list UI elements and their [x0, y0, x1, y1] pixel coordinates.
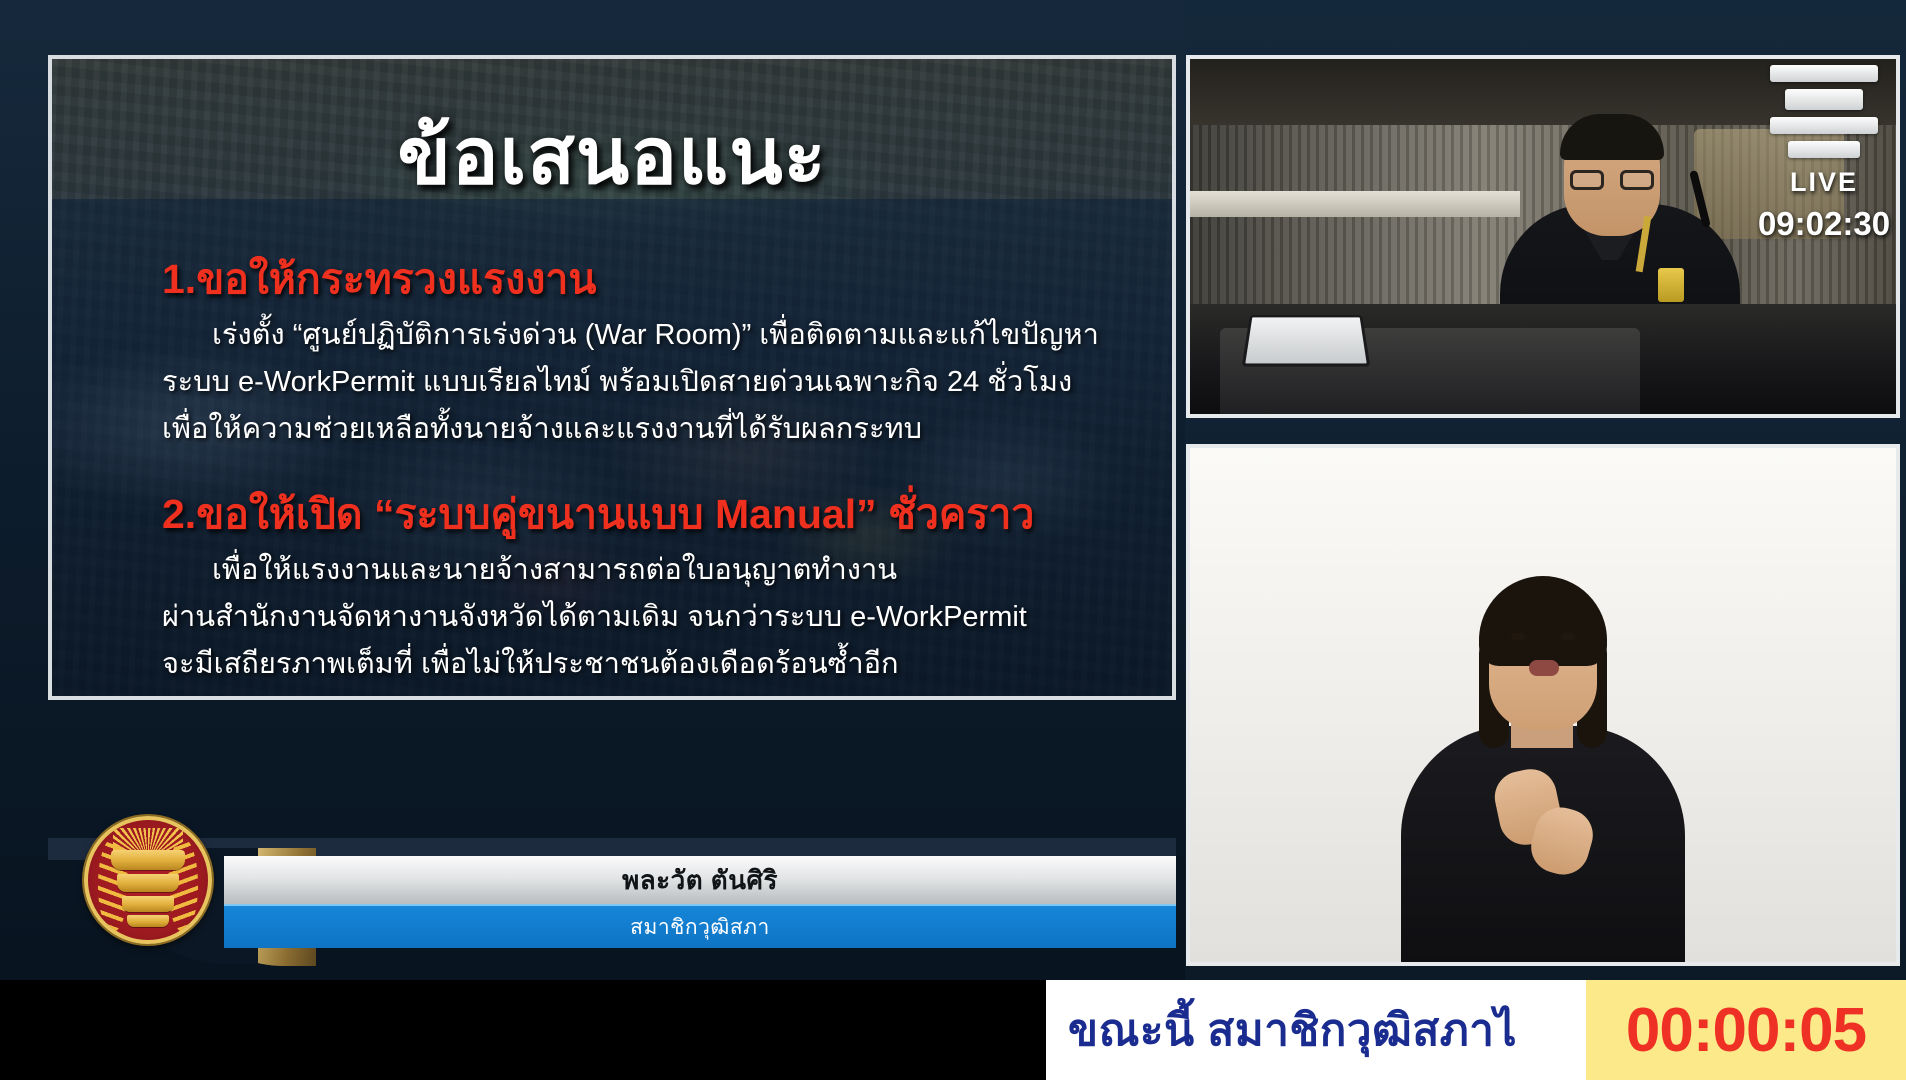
interpreter-eye-right — [1561, 633, 1575, 640]
section-2-line-3: จะมีเสถียรภาพเต็มที่ เพื่อไม่ให้ประชาชนต… — [52, 641, 1172, 688]
speech-timer-value: 00:00:05 — [1626, 995, 1866, 1066]
presentation-slide: ข้อเสนอแนะ 1.ขอให้กระทรวงแรงงาน เร่งตั้ง… — [48, 55, 1176, 700]
slide-section-1: 1.ขอให้กระทรวงแรงงาน เร่งตั้ง “ศูนย์ปฏิบ… — [52, 254, 1172, 453]
interpreter-figure — [1393, 532, 1693, 962]
ticker-message: ขณะนี้ สมาชิกวุฒิสภาไ — [1046, 995, 1586, 1065]
speaker-name-bar: พละวัต ตันศิริ — [224, 856, 1176, 904]
section-1-line-1: เร่งตั้ง “ศูนย์ปฏิบัติการเร่งด่วน (War R… — [52, 312, 1172, 359]
section-1-line-2: ระบบ e-WorkPermit แบบเรียลไทม์ พร้อมเปิด… — [52, 359, 1172, 406]
slide-section-2: 2.ขอให้เปิด “ระบบคู่ขนานแบบ Manual” ชั่ว… — [52, 489, 1172, 688]
emblem-tier-2 — [117, 874, 179, 892]
broadcast-stage: ข้อเสนอแนะ 1.ขอให้กระทรวงแรงงาน เร่งตั้ง… — [0, 0, 1906, 1080]
bottom-ticker: ขณะนี้ สมาชิกวุฒิสภาไ 00:00:05 — [1046, 980, 1906, 1080]
speaker-role: สมาชิกวุฒิสภา — [630, 911, 770, 944]
speech-timer-box: 00:00:05 — [1586, 980, 1906, 1080]
speaker-video-feed: LIVE 09:02:30 — [1186, 55, 1900, 418]
emblem-tier-3 — [122, 896, 174, 912]
live-badge-group: LIVE 09:02:30 — [1768, 65, 1880, 243]
interpreter-hair-top — [1479, 576, 1607, 666]
emblem-tier-1 — [111, 850, 185, 870]
section-1-line-3: เพื่อให้ความช่วยเหลือทั้งนายจ้างและแรงงา… — [52, 406, 1172, 453]
live-bar-2 — [1785, 89, 1863, 110]
broadcast-clock: 09:02:30 — [1758, 205, 1890, 243]
speaker-role-bar: สมาชิกวุฒิสภา — [224, 904, 1176, 948]
speaker-name: พละวัต ตันศิริ — [622, 860, 778, 901]
section-1-heading: 1.ขอให้กระทรวงแรงงาน — [52, 254, 1172, 304]
live-bar-1 — [1770, 65, 1878, 82]
thai-senate-emblem-icon — [84, 816, 212, 944]
section-1-body: เร่งตั้ง “ศูนย์ปฏิบัติการเร่งด่วน (War R… — [52, 312, 1172, 453]
interpreter-eye-left — [1511, 633, 1525, 640]
live-bar-4 — [1788, 141, 1860, 158]
speaker-hair — [1560, 114, 1664, 160]
ticker-left-filler — [0, 980, 1046, 1080]
lower-third-banner: พละวัต ตันศิริ สมาชิกวุฒิสภา — [48, 838, 1176, 966]
speaker-id-badge — [1658, 268, 1684, 302]
desk-tablet — [1242, 315, 1371, 366]
section-2-body: เพื่อให้แรงงานและนายจ้างสามารถต่อใบอนุญา… — [52, 547, 1172, 688]
chamber-ledge — [1190, 191, 1520, 217]
slide-title: ข้อเสนอแนะ — [52, 117, 1172, 195]
section-2-line-1: เพื่อให้แรงงานและนายจ้างสามารถต่อใบอนุญา… — [52, 547, 1172, 594]
live-bar-3 — [1770, 117, 1878, 134]
live-label: LIVE — [1790, 167, 1858, 198]
speaker-glasses-icon — [1570, 170, 1654, 190]
section-2-heading: 2.ขอให้เปิด “ระบบคู่ขนานแบบ Manual” ชั่ว… — [52, 489, 1172, 539]
sign-language-interpreter-feed — [1186, 444, 1900, 966]
section-2-line-2: ผ่านสำนักงานจัดหางานจังหวัดได้ตามเดิม จน… — [52, 594, 1172, 641]
emblem-tier-4 — [127, 915, 169, 927]
interpreter-mouth — [1529, 660, 1559, 676]
